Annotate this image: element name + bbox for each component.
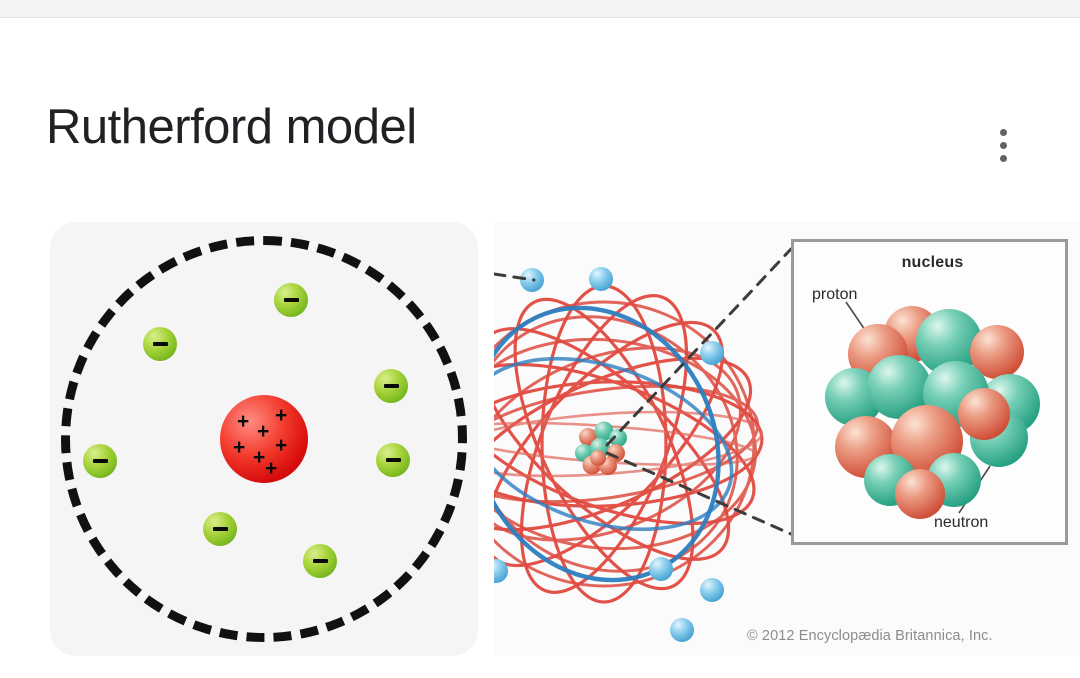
electron-sphere: [143, 327, 177, 361]
nucleus-cluster-small: [575, 422, 627, 476]
proton-charge-plus: +: [253, 447, 265, 468]
nucleus-sphere: + + + + + + +: [220, 395, 308, 483]
nucleus-inset-box: nucleus proton neutron: [791, 239, 1068, 545]
image-gallery: + + + + + + +: [0, 222, 1080, 656]
electron-charge-minus: [213, 527, 228, 531]
gallery-image-rutherford-planetary-model[interactable]: + + + + + + +: [50, 222, 478, 656]
page-title: Rutherford model: [46, 97, 417, 157]
image-credit: © 2012 Encyclopædia Britannica, Inc.: [747, 628, 993, 644]
proton-charge-plus: +: [237, 411, 249, 432]
proton-charge-plus: +: [265, 458, 277, 479]
menu-dot-1: [1000, 129, 1007, 136]
top-chrome-strip: [0, 0, 1080, 18]
nucleus-cluster-large-svg: [794, 242, 1065, 542]
menu-dot-3: [1000, 155, 1007, 162]
page-root: Rutherford model + + + + + + +: [0, 0, 1080, 678]
proton-charge-plus: +: [275, 405, 287, 426]
menu-dot-2: [1000, 142, 1007, 149]
proton-charge-plus: +: [257, 421, 269, 442]
rutherford-diagram: + + + + + + +: [50, 222, 478, 656]
electron-charge-minus: [384, 384, 399, 388]
electron-charge-minus: [386, 458, 401, 462]
electron-sphere: [203, 512, 237, 546]
britannica-atom-diagram: nucleus proton neutron: [494, 222, 1080, 656]
electron-charge-minus: [284, 298, 299, 302]
more-vert-icon[interactable]: [981, 105, 1025, 185]
proton-charge-plus: +: [275, 435, 287, 456]
electron-sphere: [303, 544, 337, 578]
electron-sphere: [83, 444, 117, 478]
electron-charge-minus: [153, 342, 168, 346]
electron-charge-minus: [93, 459, 108, 463]
electron-sphere: [374, 369, 408, 403]
electron-sphere: [376, 443, 410, 477]
proton-charge-plus: +: [233, 437, 245, 458]
gallery-image-britannica-atom-nucleus[interactable]: nucleus proton neutron: [494, 222, 1080, 656]
header: Rutherford model: [0, 19, 1080, 214]
electron-sphere: [274, 283, 308, 317]
electron-charge-minus: [313, 559, 328, 563]
